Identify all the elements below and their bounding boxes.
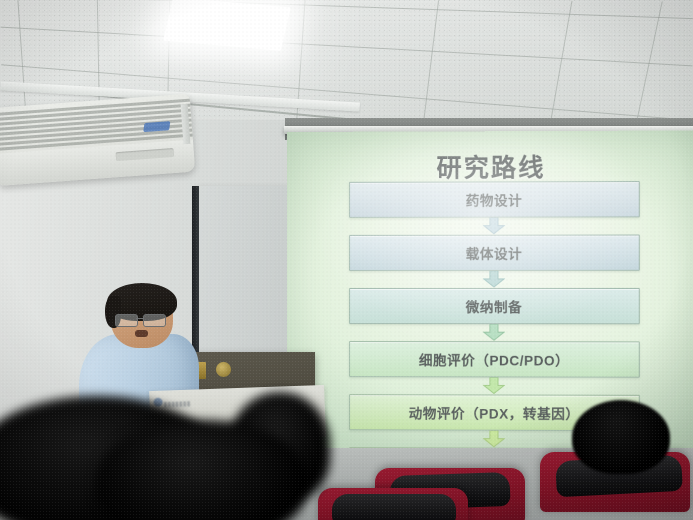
arrow-down-icon <box>483 271 505 288</box>
lecture-hall-photo: 研究路线 药物设计 载体设计 <box>0 0 693 520</box>
flow-arrow-1 <box>349 217 640 235</box>
flow-step-label: 细胞评价（PDC/PDO） <box>419 349 569 369</box>
flow-arrow-2 <box>349 271 640 288</box>
flow-step-2: 载体设计 <box>349 235 640 271</box>
glasses-lens <box>115 314 138 327</box>
arrow-down-icon <box>483 377 505 394</box>
audience-head <box>572 400 670 474</box>
flow-arrow-3 <box>349 324 640 341</box>
presenter-mouth <box>135 330 148 337</box>
flow-step-label: 动物评价（PDX，转基因） <box>409 402 580 423</box>
flow-step-3: 微纳制备 <box>349 288 640 324</box>
arrow-down-icon <box>483 218 505 235</box>
flow-step-label: 药物设计 <box>466 189 523 209</box>
arrow-down-icon <box>483 431 505 448</box>
flow-step-label: 载体设计 <box>466 243 523 263</box>
flow-step-1: 药物设计 <box>349 181 640 218</box>
glasses-bridge <box>136 318 143 319</box>
slide-title: 研究路线 <box>287 148 693 185</box>
arrow-down-icon <box>483 324 505 341</box>
presenter-glasses <box>115 314 169 325</box>
flow-arrow-4 <box>349 377 640 395</box>
flow-step-label: 微纳制备 <box>466 296 523 316</box>
glasses-lens <box>143 314 166 327</box>
flow-step-4: 细胞评价（PDC/PDO） <box>349 341 640 378</box>
podium-emblem-round <box>216 362 231 377</box>
seat-headrest <box>332 494 456 520</box>
wall-air-conditioner <box>0 94 195 186</box>
